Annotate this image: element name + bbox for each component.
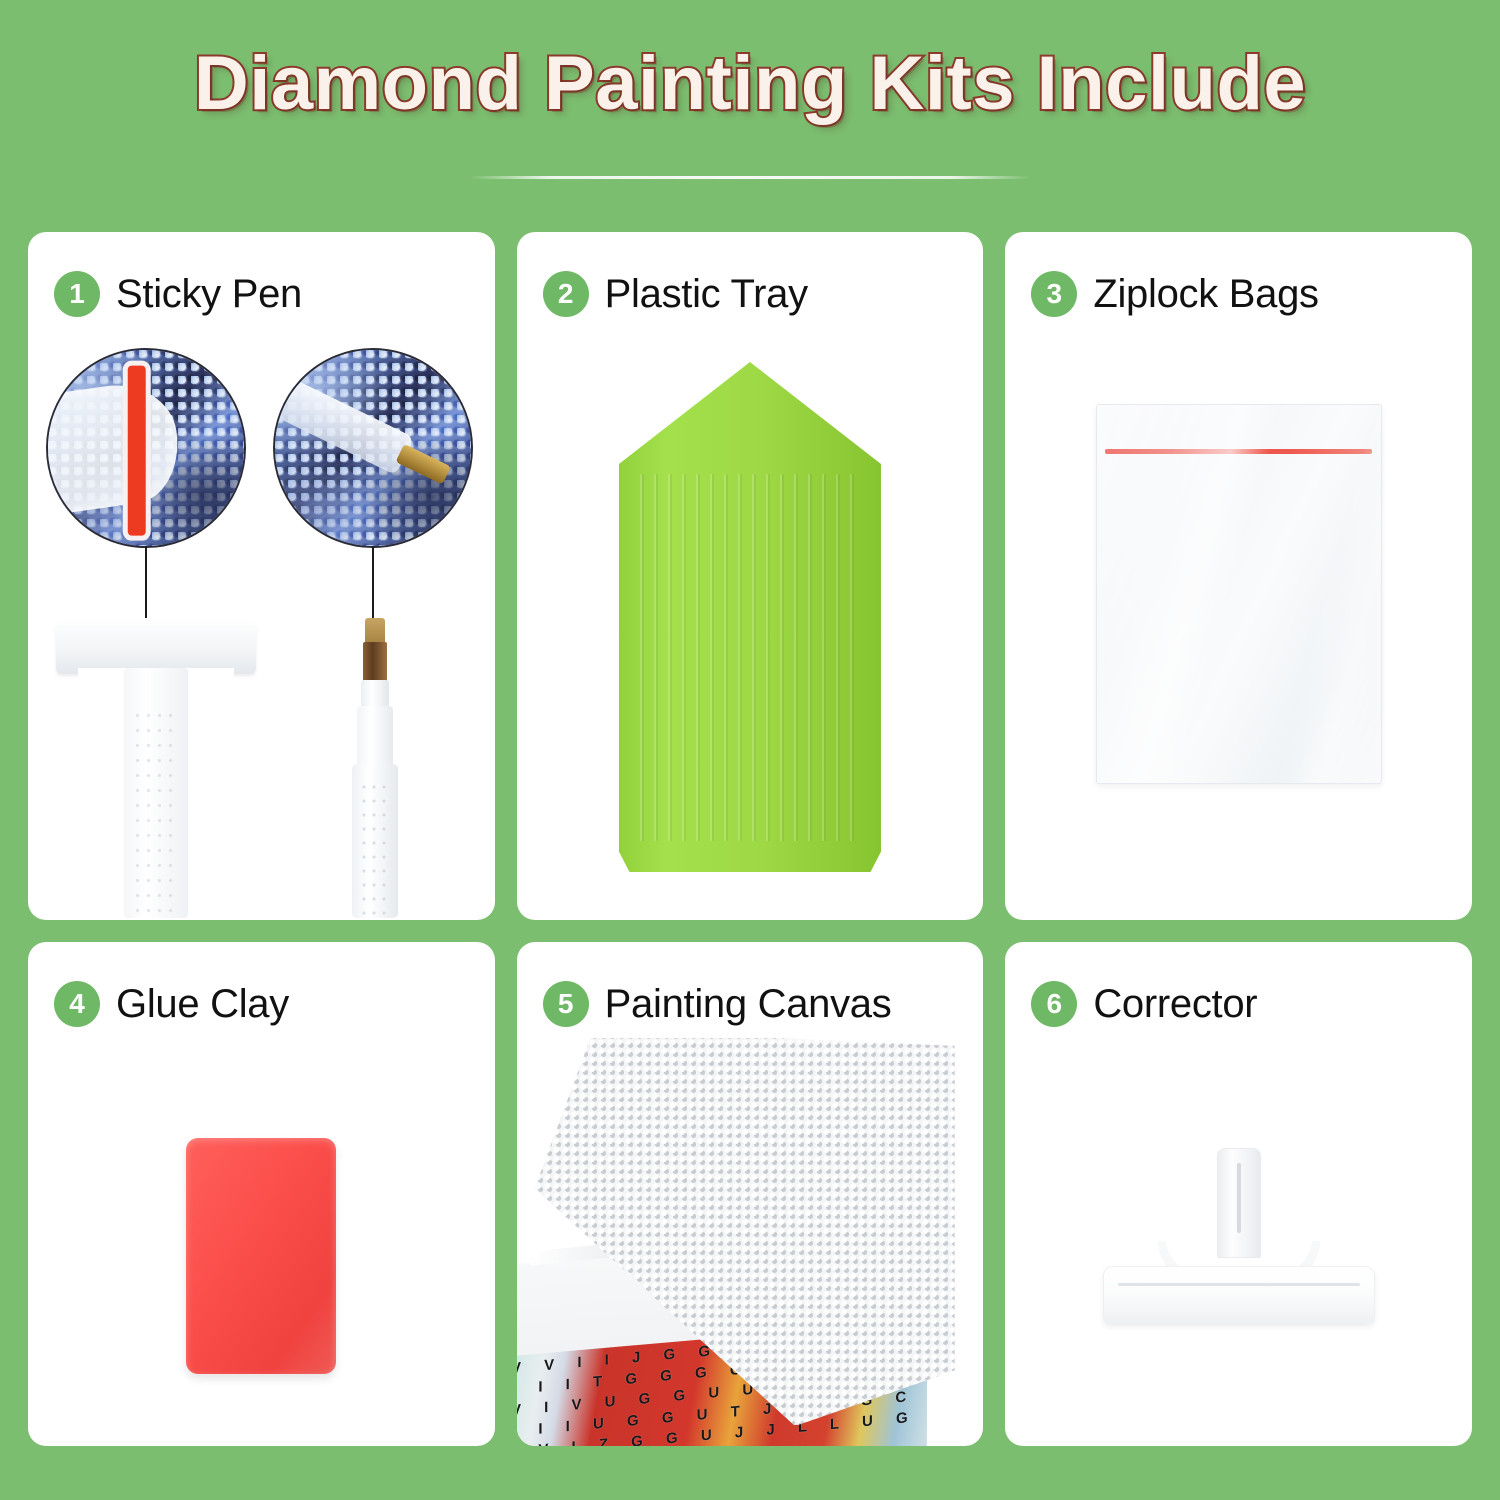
kit-card-sticky-pen[interactable]: 1 Sticky Pen <box>28 232 495 920</box>
page-title: Diamond Painting Kits Include <box>194 46 1306 122</box>
card-body-painting-canvas: V V I I J G G G G C G G G G I I I T G G … <box>517 1038 984 1446</box>
card-body-sticky-pen <box>28 328 495 920</box>
glue-clay-illustration <box>186 1138 336 1374</box>
step-badge-1: 1 <box>54 271 100 317</box>
plastic-sheen <box>1097 405 1381 783</box>
magnified-pen-photo <box>273 348 473 548</box>
card-title-glue-clay: Glue Clay <box>116 982 289 1027</box>
card-header: 3 Ziplock Bags <box>1005 232 1472 328</box>
card-body-plastic-tray <box>517 328 984 920</box>
magnified-squeegee-photo <box>46 348 246 548</box>
step-badge-2: 2 <box>543 271 589 317</box>
plastic-tray-illustration <box>619 362 881 872</box>
step-badge-6: 6 <box>1031 981 1077 1027</box>
sticky-pen-illustration <box>346 618 406 918</box>
corrector-stem <box>1217 1148 1261 1258</box>
step-badge-5: 5 <box>543 981 589 1027</box>
kit-card-corrector[interactable]: 6 Corrector <box>1005 942 1472 1446</box>
card-body-ziplock-bags <box>1005 328 1472 920</box>
card-header: 4 Glue Clay <box>28 942 495 1038</box>
kit-card-ziplock-bags[interactable]: 3 Ziplock Bags <box>1005 232 1472 920</box>
card-header: 1 Sticky Pen <box>28 232 495 328</box>
step-badge-3: 3 <box>1031 271 1077 317</box>
kit-contents-grid: 1 Sticky Pen <box>28 232 1472 1446</box>
pen-barrel <box>352 764 398 918</box>
corrector-tool-illustration <box>1099 1148 1379 1338</box>
leader-line-left <box>145 546 147 618</box>
card-title-sticky-pen: Sticky Pen <box>116 272 302 317</box>
card-header: 6 Corrector <box>1005 942 1472 1038</box>
card-title-painting-canvas: Painting Canvas <box>605 982 892 1027</box>
painting-canvas-illustration: V V I I J G G G G C G G G G I I I T G G … <box>517 1038 984 1446</box>
pen-brass-tip <box>365 618 385 644</box>
card-title-ziplock-bags: Ziplock Bags <box>1093 272 1318 317</box>
card-title-corrector: Corrector <box>1093 982 1257 1027</box>
squeegee-head <box>56 618 256 674</box>
pen-midsection <box>357 706 393 768</box>
card-header: 2 Plastic Tray <box>517 232 984 328</box>
squeegee-handle <box>124 668 188 918</box>
step-badge-4: 4 <box>54 981 100 1027</box>
card-body-glue-clay <box>28 1038 495 1446</box>
pen-ferrule <box>363 642 387 682</box>
kit-card-glue-clay[interactable]: 4 Glue Clay <box>28 942 495 1446</box>
card-title-plastic-tray: Plastic Tray <box>605 272 808 317</box>
card-header: 5 Painting Canvas <box>517 942 984 1038</box>
card-body-corrector <box>1005 1038 1472 1446</box>
ziplock-bag-illustration <box>1096 404 1382 784</box>
page-header: Diamond Painting Kits Include <box>0 0 1500 200</box>
corrector-base <box>1103 1266 1375 1324</box>
kit-card-plastic-tray[interactable]: 2 Plastic Tray <box>517 232 984 920</box>
squeegee-tool-illustration <box>56 618 256 918</box>
kit-card-painting-canvas[interactable]: 5 Painting Canvas V V I I J G G G G C G … <box>517 942 984 1446</box>
title-divider <box>470 176 1030 179</box>
leader-line-right <box>372 546 374 618</box>
